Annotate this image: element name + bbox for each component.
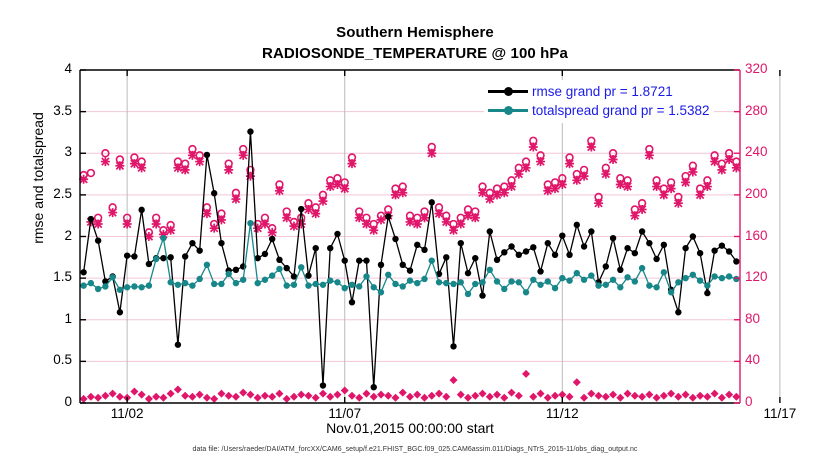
totalspread-point xyxy=(436,279,442,285)
totalspread-point xyxy=(661,269,667,275)
totalspread-point xyxy=(523,289,529,295)
rmse-point xyxy=(160,255,166,261)
obs-assimilated-marker xyxy=(318,197,327,206)
rmse-point xyxy=(262,251,268,257)
totalspread-point xyxy=(327,277,333,283)
legend-label-rmse: rmse grand pr = 1.8721 xyxy=(532,84,673,99)
obs-assimilated-marker xyxy=(551,184,560,193)
rmse-point xyxy=(175,342,181,348)
rmse-point xyxy=(530,244,536,250)
obs-assimilated-marker xyxy=(398,188,407,197)
rmse-point xyxy=(196,247,202,253)
totalspread-point xyxy=(537,282,543,288)
obs-assimilated-marker xyxy=(703,182,712,191)
obs-assimilated-marker xyxy=(565,159,574,168)
obs-assimilated-marker xyxy=(667,184,676,193)
totalspread-point xyxy=(80,282,86,288)
obs-assimilated-marker xyxy=(681,178,690,187)
totalspread-point xyxy=(109,274,115,280)
obs-assimilated-marker xyxy=(297,220,306,229)
obs-assimilated-marker xyxy=(645,151,654,160)
obs-assimilated-marker xyxy=(94,220,103,229)
totalspread-point xyxy=(726,273,732,279)
obs-assimilated-marker xyxy=(202,209,211,218)
legend-swatch-rmse xyxy=(488,90,528,92)
totalspread-point xyxy=(646,282,652,288)
rmse-point xyxy=(690,233,696,239)
totalspread-point xyxy=(516,279,522,285)
obs-assimilated-marker xyxy=(471,213,480,222)
rmse-point xyxy=(138,207,144,213)
obs-assimilated-marker xyxy=(529,143,538,152)
rmse-point xyxy=(675,309,681,315)
totalspread-point xyxy=(682,275,688,281)
totalspread-point xyxy=(559,275,565,281)
rmse-point xyxy=(588,228,594,234)
obs-assimilated-marker xyxy=(507,182,516,191)
plot-canvas xyxy=(0,0,830,470)
totalspread-point xyxy=(146,282,152,288)
obs-assimilated-marker xyxy=(725,155,734,164)
rmse-point xyxy=(414,242,420,248)
totalspread-point xyxy=(233,280,239,286)
obs-assimilated-marker xyxy=(210,224,219,233)
obs-assimilated-marker xyxy=(485,195,494,204)
obs-assimilated-marker xyxy=(601,170,610,179)
rmse-point xyxy=(327,245,333,251)
rmse-point xyxy=(305,272,311,278)
rmse-point xyxy=(443,254,449,260)
rmse-point xyxy=(661,242,667,248)
totalspread-point xyxy=(342,285,348,291)
obs-assimilated-marker xyxy=(638,205,647,214)
totalspread-point xyxy=(291,282,297,288)
rmse-point xyxy=(494,257,500,263)
rmse-point xyxy=(545,240,551,246)
totalspread-point xyxy=(574,270,580,276)
obs-assimilated-marker xyxy=(115,161,124,170)
totalspread-point xyxy=(349,282,355,288)
rmse-point xyxy=(131,253,137,259)
rmse-point xyxy=(653,256,659,262)
rmse-point xyxy=(95,237,101,243)
obs-assimilated-marker xyxy=(268,228,277,237)
obs-assimilated-marker xyxy=(282,213,291,222)
rmse-point xyxy=(646,240,652,246)
totalspread-point xyxy=(653,284,659,290)
obs-assimilated-marker xyxy=(717,165,726,174)
totalspread-point xyxy=(588,272,594,278)
totalspread-point xyxy=(102,283,108,289)
totalspread-point xyxy=(675,279,681,285)
totalspread-point xyxy=(465,291,471,297)
totalspread-point xyxy=(711,273,717,279)
obs-assimilated-marker xyxy=(253,224,262,233)
totalspread-point xyxy=(458,279,464,285)
totalspread-point xyxy=(182,280,188,286)
rmse-point xyxy=(479,292,485,298)
rmse-point xyxy=(458,240,464,246)
totalspread-point xyxy=(138,284,144,290)
totalspread-point xyxy=(530,277,536,283)
totalspread-point xyxy=(566,277,572,283)
totalspread-point xyxy=(581,277,587,283)
obs-assimilated-marker xyxy=(587,143,596,152)
totalspread-point xyxy=(131,283,137,289)
rmse-point xyxy=(204,152,210,158)
totalspread-point xyxy=(269,272,275,278)
totalspread-point xyxy=(443,280,449,286)
totalspread-point xyxy=(632,278,638,284)
rmse-point xyxy=(182,253,188,259)
rmse-point xyxy=(269,236,275,242)
rmse-point xyxy=(450,343,456,349)
obs-assimilated-marker xyxy=(572,176,581,185)
rmse-point xyxy=(639,228,645,234)
obs-assimilated-marker xyxy=(522,163,531,172)
totalspread-point xyxy=(392,281,398,287)
rmse-point xyxy=(429,199,435,205)
chart-legend: rmse grand pr = 1.8721 totalspread grand… xyxy=(484,80,714,123)
totalspread-point xyxy=(610,277,616,283)
obs-assimilated-marker xyxy=(311,209,320,218)
obs-assimilated-marker xyxy=(442,217,451,226)
rmse-point xyxy=(276,257,282,263)
rmse-point xyxy=(581,243,587,249)
obs-assimilated-marker xyxy=(456,220,465,229)
totalspread-point xyxy=(117,287,123,293)
obs-assimilated-marker xyxy=(152,220,161,229)
rmse-point xyxy=(508,243,514,249)
rmse-point xyxy=(124,252,130,258)
obs-assimilated-marker xyxy=(688,167,697,176)
obs-assimilated-marker xyxy=(536,157,545,166)
totalspread-point xyxy=(196,276,202,282)
rmse-point xyxy=(407,267,413,273)
totalspread-point xyxy=(363,273,369,279)
rmse-point xyxy=(566,252,572,258)
obs-assimilated-marker xyxy=(391,190,400,199)
obs-assimilated-marker xyxy=(406,217,415,226)
obs-assimilated-marker xyxy=(326,182,335,191)
obs-assimilated-marker xyxy=(609,155,618,164)
totalspread-point xyxy=(414,280,420,286)
obs-assimilated-marker xyxy=(275,186,284,195)
totalspread-point xyxy=(545,278,551,284)
totalspread-point xyxy=(697,277,703,283)
rmse-point xyxy=(632,250,638,256)
totalspread-point xyxy=(240,277,246,283)
totalspread-point xyxy=(400,283,406,289)
totalspread-point xyxy=(595,282,601,288)
totalspread-point xyxy=(624,274,630,280)
totalspread-point xyxy=(153,256,159,262)
obs-assimilated-marker xyxy=(231,195,240,204)
rmse-point xyxy=(624,245,630,251)
totalspread-point xyxy=(88,280,94,286)
totalspread-point xyxy=(160,235,166,241)
totalspread-point xyxy=(298,264,304,270)
rmse-point xyxy=(472,255,478,261)
rmse-point xyxy=(356,257,362,263)
totalspread-point xyxy=(617,284,623,290)
rmse-point xyxy=(211,190,217,196)
totalspread-point xyxy=(719,275,725,281)
rmse-point xyxy=(516,252,522,258)
rmse-point xyxy=(117,309,123,315)
obs-assimilated-marker xyxy=(289,222,298,231)
totalspread-point xyxy=(276,266,282,272)
obs-assimilated-marker xyxy=(224,165,233,174)
rmse-point xyxy=(487,228,493,234)
totalspread-point xyxy=(225,271,231,277)
rmse-point xyxy=(733,258,739,264)
legend-item-rmse[interactable]: rmse grand pr = 1.8721 xyxy=(488,82,710,101)
rmse-point xyxy=(247,128,253,134)
obs-assimilated-marker xyxy=(347,159,356,168)
obs-assimilated-marker xyxy=(558,180,567,189)
rmse-point xyxy=(617,267,623,273)
totalspread-point xyxy=(421,276,427,282)
totalspread-point xyxy=(501,286,507,292)
totalspread-point xyxy=(378,289,384,295)
rmse-point xyxy=(371,384,377,390)
obs-assimilated-marker xyxy=(304,205,313,214)
rmse-point xyxy=(682,245,688,251)
obs-assimilated-marker xyxy=(123,220,132,229)
rmse-point xyxy=(523,248,529,254)
rmse-point xyxy=(378,262,384,268)
obs-assimilated-marker xyxy=(340,184,349,193)
totalspread-point xyxy=(175,282,181,288)
obs-assimilated-marker xyxy=(376,215,385,224)
totalspread-point xyxy=(204,262,210,268)
obs-assimilated-marker xyxy=(260,220,269,229)
totalspread-point xyxy=(247,220,253,226)
obs-assimilated-marker xyxy=(594,199,603,208)
totalspread-point xyxy=(494,278,500,284)
rmse-point xyxy=(80,269,86,275)
rmse-point xyxy=(719,242,725,248)
obs-assimilated-marker xyxy=(166,226,175,235)
obs-assimilated-marker xyxy=(710,157,719,166)
totalspread-point xyxy=(603,282,609,288)
data-file-footer: data file: /Users/raeder/DAI/ATM_forcXX/… xyxy=(0,446,830,453)
obs-assimilated-marker xyxy=(420,213,429,222)
rmse-point xyxy=(552,252,558,258)
obs-assimilated-marker xyxy=(239,151,248,160)
totalspread-point xyxy=(95,286,101,292)
totalspread-point xyxy=(385,272,391,278)
totalspread-point xyxy=(704,282,710,288)
totalspread-point xyxy=(167,279,173,285)
obs-assimilated-marker xyxy=(464,211,473,220)
legend-swatch-totalspread xyxy=(488,109,528,111)
rmse-point xyxy=(320,382,326,388)
rmse-point xyxy=(711,247,717,253)
totalspread-point xyxy=(429,257,435,263)
totalspread-point xyxy=(508,278,514,284)
obs-assimilated-marker xyxy=(173,163,182,172)
rmse-point xyxy=(501,249,507,255)
rmse-point xyxy=(559,232,565,238)
totalspread-point xyxy=(690,272,696,278)
obs-assimilated-marker xyxy=(195,157,204,166)
rmse-point xyxy=(349,299,355,305)
rmse-point xyxy=(385,213,391,219)
totalspread-point xyxy=(356,283,362,289)
rmse-point xyxy=(574,222,580,228)
rmse-point xyxy=(610,235,616,241)
obs-assimilated-marker xyxy=(137,163,146,172)
rmse-point xyxy=(465,270,471,276)
totalspread-point xyxy=(450,281,456,287)
rmse-point xyxy=(363,257,369,263)
totalspread-point xyxy=(254,280,260,286)
rmse-point xyxy=(704,290,710,296)
totalspread-point xyxy=(334,279,340,285)
obs-assimilated-marker xyxy=(493,190,502,199)
obs-assimilated-marker xyxy=(623,182,632,191)
totalspread-point xyxy=(218,281,224,287)
obs-assimilated-marker xyxy=(696,190,705,199)
totalspread-point xyxy=(189,282,195,288)
rmse-point xyxy=(233,267,239,273)
rmse-point xyxy=(218,240,224,246)
totalspread-point xyxy=(668,289,674,295)
totalspread-point xyxy=(472,281,478,287)
obs-assimilated-marker xyxy=(543,186,552,195)
legend-label-totalspread: totalspread grand pr = 1.5382 xyxy=(532,103,710,118)
rmse-point xyxy=(167,254,173,260)
totalspread-point xyxy=(305,282,311,288)
rmse-point xyxy=(88,216,94,222)
totalspread-point xyxy=(487,267,493,273)
totalspread-point xyxy=(733,276,739,282)
obs-assimilated-marker xyxy=(333,180,342,189)
obs-assimilated-marker xyxy=(108,208,117,217)
rmse-point xyxy=(603,263,609,269)
obs-assimilated-marker xyxy=(652,182,661,191)
obs-assimilated-marker xyxy=(369,226,378,235)
obs-assimilated-marker xyxy=(101,157,110,166)
rmse-point xyxy=(189,240,195,246)
rmse-point xyxy=(392,236,398,242)
totalspread-point xyxy=(320,282,326,288)
obs-assimilated-marker xyxy=(181,165,190,174)
rmse-point xyxy=(537,268,543,274)
chart-figure: Southern Hemisphere RADIOSONDE_TEMPERATU… xyxy=(0,0,830,470)
totalspread-point xyxy=(479,279,485,285)
rmse-point xyxy=(334,231,340,237)
obs-assimilated-marker xyxy=(616,180,625,189)
rmse-point xyxy=(298,206,304,212)
totalspread-point xyxy=(124,284,130,290)
rmse-point xyxy=(146,261,152,267)
obs-assimilated-marker xyxy=(427,149,436,158)
rmse-point xyxy=(313,245,319,251)
obs-assimilated-marker xyxy=(435,209,444,218)
obs-assimilated-marker xyxy=(674,199,683,208)
rmse-point xyxy=(421,247,427,253)
totalspread-point xyxy=(371,284,377,290)
totalspread-point xyxy=(313,281,319,287)
obs-assimilated-marker xyxy=(580,172,589,181)
totalspread-point xyxy=(211,281,217,287)
totalspread-point xyxy=(262,277,268,283)
rmse-point xyxy=(697,250,703,256)
totalspread-point xyxy=(284,282,290,288)
rmse-point xyxy=(726,248,732,254)
rmse-point xyxy=(342,257,348,263)
totalspread-point xyxy=(407,277,413,283)
rmse-point xyxy=(400,262,406,268)
obs-assimilated-marker xyxy=(130,159,139,168)
legend-item-totalspread[interactable]: totalspread grand pr = 1.5382 xyxy=(488,101,710,120)
totalspread-point xyxy=(639,265,645,271)
rmse-point xyxy=(284,265,290,271)
totalspread-point xyxy=(552,285,558,291)
